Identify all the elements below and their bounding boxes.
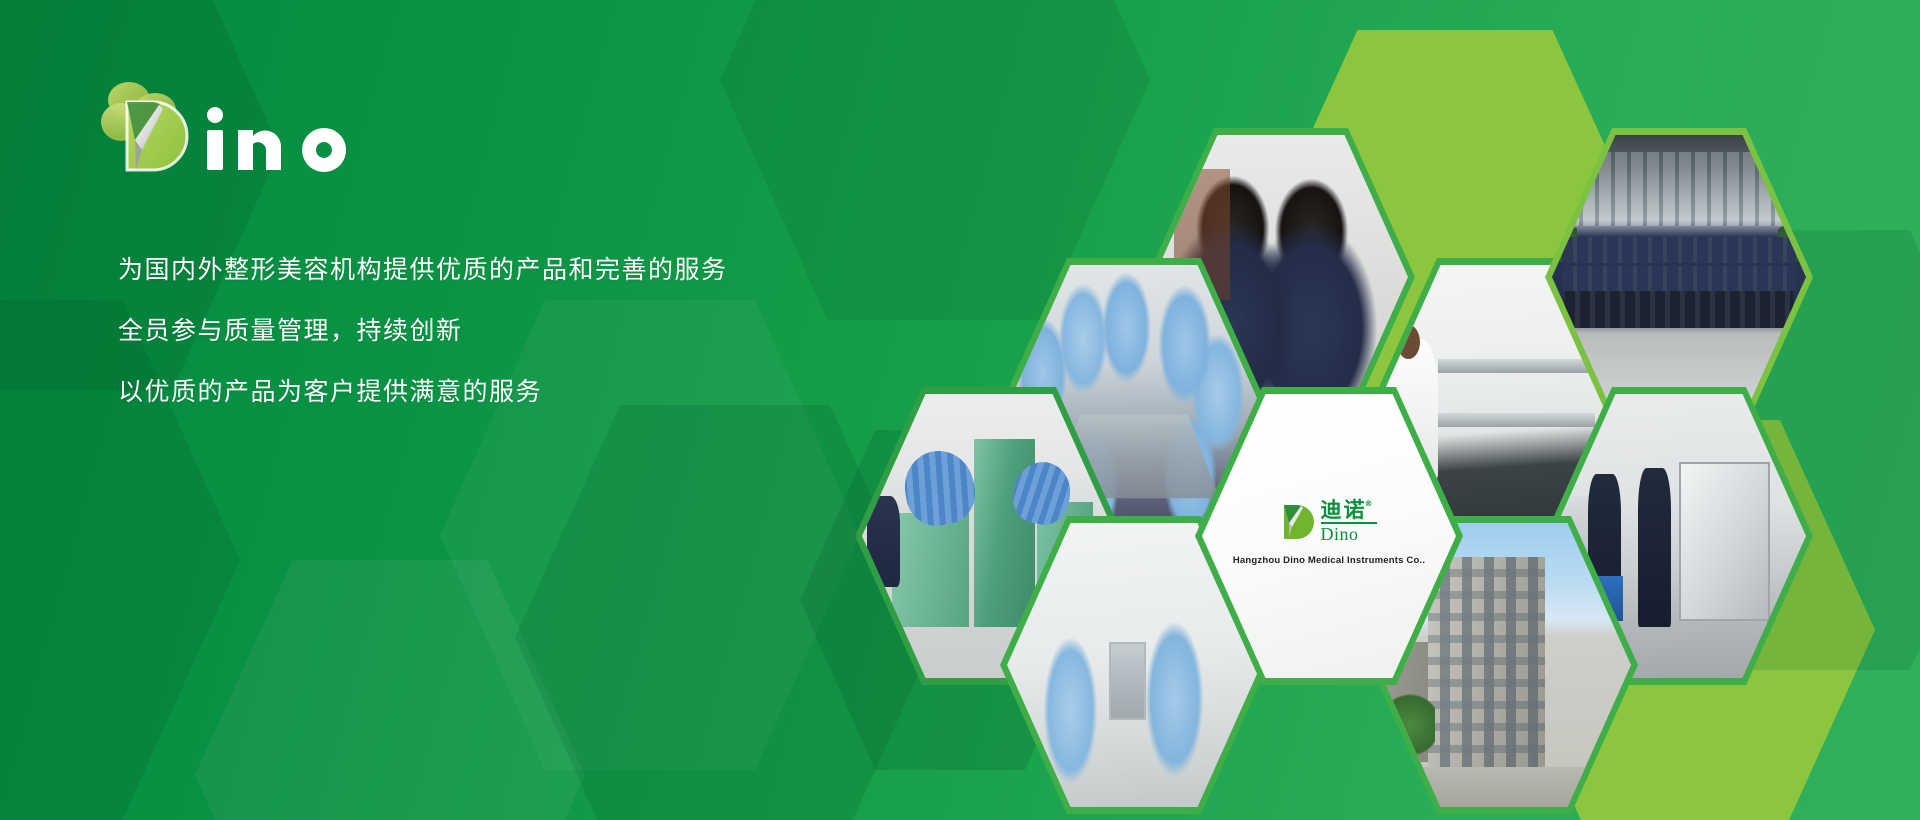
dino-logo-icon [95,70,395,190]
banner-content: 为国内外整形美容机构提供优质的产品和完善的服务 全员参与质量管理，持续创新 以优… [0,0,900,820]
center-logo-hexagon-inner: 迪诺® Dino Hangzhou Dino Medical Instrumen… [1202,394,1456,678]
badge-logo-lockup: 迪诺® Dino [1282,500,1377,543]
tagline-list: 为国内外整形美容机构提供优质的产品和完善的服务 全员参与质量管理，持续创新 以优… [118,258,728,405]
tagline-1: 为国内外整形美容机构提供优质的产品和完善的服务 [118,258,728,283]
tagline-3: 以优质的产品为客户提供满意的服务 [118,380,728,405]
registered-mark-icon: ® [1365,500,1375,508]
hero-banner: 迪诺® Dino Hangzhou Dino Medical Instrumen… [0,0,1920,820]
photo-hex-inner [1552,135,1806,419]
group-photo [1552,135,1806,419]
dino-leaf-mark-icon [1282,503,1316,541]
badge-english-name: Dino [1321,525,1359,543]
badge-text-block: 迪诺® Dino [1321,500,1377,543]
tagline-2: 全员参与质量管理，持续创新 [118,319,728,344]
badge-chinese-name: 迪诺® [1321,500,1367,521]
badge-company-caption: Hangzhou Dino Medical Instruments Co.. [1233,555,1425,566]
brand-logo [95,70,395,190]
